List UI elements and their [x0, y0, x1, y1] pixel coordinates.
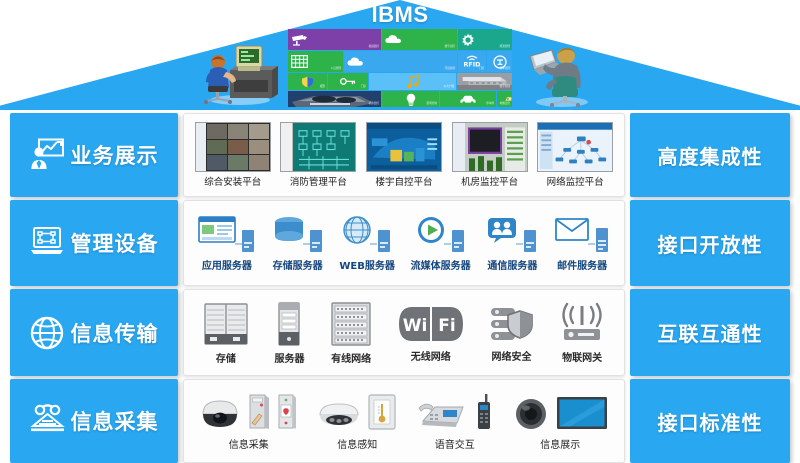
platform-caption: 机房监控平台	[461, 174, 518, 188]
tile-label: 报警	[320, 86, 325, 89]
lamp-icon	[405, 93, 417, 106]
ip-phone-icon	[417, 399, 469, 436]
person-with-laptop-illustration	[522, 38, 600, 108]
tile-label: 停车管理	[500, 68, 510, 71]
video-wall-screenshot	[195, 122, 271, 172]
walkie-talkie-icon	[475, 393, 493, 436]
tile-label: 地图定位	[500, 103, 510, 106]
sidebar-item-business-display[interactable]: 业务展示	[10, 113, 178, 197]
envelope-icon	[554, 214, 610, 254]
network-caption: 物联网关	[562, 349, 602, 364]
control-room-photo	[288, 91, 381, 107]
network-caption: 服务器	[274, 350, 304, 365]
device-caption: 流媒体服务器	[411, 257, 471, 272]
sidebar-label: 信息采集	[71, 406, 159, 436]
network-item[interactable]: 有线网络	[330, 301, 372, 365]
network-caption: 存储	[216, 350, 236, 365]
storage-cabinet-icon	[203, 301, 249, 347]
platform-card[interactable]: 楼宇自控平台	[364, 122, 444, 188]
network-caption: 无线网络	[411, 348, 451, 363]
tile-label: 机房监控	[369, 103, 379, 106]
bms-screenshot	[366, 122, 442, 172]
platform-card[interactable]: 综合安装平台	[193, 122, 273, 188]
collection-caption: 语音交互	[435, 436, 475, 451]
layer-row-business-display: 业务展示 综合安装平台	[0, 113, 800, 197]
network-item[interactable]: Wi Fi 无线网络	[398, 303, 464, 363]
tile-label: 能源管理	[500, 46, 510, 49]
tile-label: 门禁	[479, 68, 484, 71]
tile-label: 公共广播	[444, 86, 454, 89]
device-caption: 应用服务器	[202, 257, 252, 272]
cctv-camera-icon	[291, 34, 308, 46]
sidebar-item-information-collection[interactable]: 信息采集	[10, 379, 178, 463]
laptop-network-icon	[30, 226, 64, 260]
attribute-item-open-interface[interactable]: 接口开放性	[630, 200, 790, 286]
sidebar-label: 业务展示	[71, 140, 159, 170]
layer-row-information-transmission: 信息传输	[0, 289, 800, 376]
server-tower-icon	[276, 301, 302, 347]
collection-group[interactable]: 信息展示	[512, 392, 608, 451]
cloud-fill-icon	[347, 56, 363, 67]
device-item[interactable]: 流媒体服务器	[411, 214, 471, 272]
collection-caption: 信息感知	[337, 436, 377, 451]
platform-caption: 网络监控平台	[547, 174, 604, 188]
attribute-item-interconnection[interactable]: 互联互通性	[630, 289, 790, 376]
tile-building-view[interactable]: 楼宇管理	[457, 73, 512, 90]
tile-label: 楼宇自控	[445, 46, 455, 49]
card-reader-icon	[246, 393, 270, 436]
person-at-desktop-computer-illustration	[196, 40, 282, 106]
tile-video-surveillance[interactable]: 视频监控	[288, 29, 381, 50]
globe-wire-icon	[341, 214, 393, 254]
attribute-label: 接口开放性	[658, 229, 763, 258]
management-devices-panel: 应用服务器 存储服务器	[183, 200, 625, 286]
network-rack-icon	[330, 301, 372, 347]
tile-label: 楼宇管理	[500, 86, 510, 89]
display-screen-icon	[556, 395, 608, 436]
device-item[interactable]: 存储服务器	[272, 214, 324, 272]
sidebar-item-information-transmission[interactable]: 信息传输	[10, 289, 178, 376]
sidebar-label: 信息传输	[71, 318, 159, 348]
people-chat-icon	[486, 214, 538, 254]
attribute-label: 互联互通性	[658, 318, 763, 347]
device-caption: 存储服务器	[273, 257, 323, 272]
layer-row-information-collection: 信息采集	[0, 379, 800, 463]
wifi-icon: Wi Fi	[398, 303, 464, 345]
attribute-label: 高度集成性	[658, 141, 763, 170]
attribute-item-high-integration[interactable]: 高度集成性	[630, 113, 790, 197]
device-caption: 通信服务器	[487, 257, 537, 272]
tile-alarm[interactable]: 报警	[288, 73, 327, 90]
tile-parking-management[interactable]: 停车管理	[487, 51, 512, 72]
collection-caption: 信息采集	[229, 436, 269, 451]
tile-building-automation[interactable]: 楼宇自控	[382, 29, 457, 50]
database-cylinder-icon	[272, 214, 324, 254]
network-caption: 网络安全	[491, 348, 531, 363]
platform-caption: 综合安装平台	[204, 174, 261, 188]
tile-label: 环境监测	[445, 68, 455, 71]
datacenter-screenshot	[452, 122, 528, 172]
temperature-panel-icon	[367, 393, 397, 436]
function-tile-mosaic: 视频监控 楼宇自控 能源管理 人员管理 环境监测	[288, 29, 512, 103]
layer-rows: 业务展示 综合安装平台	[0, 110, 800, 463]
network-item[interactable]: 网络安全	[489, 303, 533, 363]
sidebar-label: 管理设备	[71, 228, 159, 258]
information-collection-panel: 信息采集	[183, 379, 625, 463]
gear-icon	[461, 33, 475, 47]
sensor-antenna-icon	[30, 404, 64, 438]
key-icon	[340, 77, 356, 86]
attribute-label: 接口标准性	[658, 407, 763, 436]
network-item[interactable]: 物联网关	[559, 302, 605, 364]
layer-row-management-devices: 管理设备	[0, 200, 800, 286]
ibms-architecture-diagram: IBMS	[0, 0, 800, 463]
globe-grid-icon	[30, 316, 64, 350]
business-display-panel: 综合安装平台	[183, 113, 625, 197]
tile-rfid-access[interactable]: RFID 门禁	[458, 51, 486, 72]
presenter-chart-icon	[30, 138, 64, 172]
wireless-gateway-icon	[559, 302, 605, 346]
svg-text:Wi: Wi	[403, 316, 428, 336]
collection-group[interactable]: 语音交互	[417, 392, 493, 451]
tile-label: 照明控制	[427, 103, 437, 106]
attribute-item-standard-interface[interactable]: 接口标准性	[630, 379, 790, 463]
platform-caption: 消防管理平台	[290, 174, 347, 188]
platform-card[interactable]: 机房监控平台	[450, 122, 530, 188]
tile-lighting-control[interactable]: 照明控制	[382, 91, 439, 107]
tile-label: 门禁	[361, 86, 366, 89]
emergency-button-icon	[276, 393, 298, 436]
tile-energy-management[interactable]: 能源管理	[458, 29, 512, 50]
dome-camera-icon	[200, 397, 240, 436]
collection-group[interactable]: 信息感知	[317, 392, 397, 451]
tile-personnel-management[interactable]: 人员管理	[288, 51, 343, 72]
network-topology-screenshot	[537, 122, 613, 172]
tile-label: 人员管理	[331, 68, 341, 71]
roof-section: IBMS	[0, 0, 800, 110]
network-item[interactable]: 存储	[203, 301, 249, 365]
tile-environment-monitor[interactable]: 环境监测	[344, 51, 457, 72]
svg-text:Fi: Fi	[438, 316, 455, 336]
music-note-icon	[405, 75, 421, 89]
device-caption: WEB服务器	[339, 257, 394, 272]
platform-card[interactable]: 网络监控平台	[535, 122, 615, 188]
tile-map-location[interactable]: 地图定位	[497, 91, 512, 107]
platform-card[interactable]: 消防管理平台	[278, 122, 358, 188]
information-transmission-panel: 存储 服务器	[183, 289, 625, 376]
network-caption: 有线网络	[331, 350, 371, 365]
cloud-icon	[385, 34, 402, 45]
device-item[interactable]: 邮件服务器	[554, 214, 610, 272]
collection-group[interactable]: 信息采集	[200, 392, 298, 451]
platform-caption: 楼宇自控平台	[375, 174, 432, 188]
network-item[interactable]: 服务器	[274, 301, 304, 365]
tile-parking-lot[interactable]: 停车场	[440, 91, 496, 107]
server-shield-icon	[489, 303, 533, 345]
app-window-server-icon	[198, 214, 256, 254]
shield-icon	[301, 76, 314, 88]
device-item[interactable]: WEB服务器	[339, 214, 394, 272]
tile-control-room[interactable]: 机房监控	[288, 91, 381, 107]
device-item[interactable]: 通信服务器	[486, 214, 538, 272]
car-icon	[459, 95, 477, 104]
speaker-icon	[512, 397, 550, 436]
svg-text:RFID: RFID	[464, 61, 481, 69]
play-button-icon	[415, 214, 467, 254]
fire-system-screenshot	[280, 122, 356, 172]
device-item[interactable]: 应用服务器	[198, 214, 256, 272]
tile-public-broadcast[interactable]: 公共广播	[369, 73, 456, 90]
tile-access-control[interactable]: 门禁	[328, 73, 368, 90]
tile-label: 停车场	[486, 103, 494, 106]
device-caption: 邮件服务器	[557, 257, 607, 272]
page-title: IBMS	[0, 2, 800, 28]
tile-label: 视频监控	[369, 46, 379, 49]
sidebar-item-management-devices[interactable]: 管理设备	[10, 200, 178, 286]
collection-caption: 信息展示	[540, 436, 580, 451]
smoke-detector-icon	[317, 401, 361, 436]
grid-table-icon	[291, 55, 308, 68]
